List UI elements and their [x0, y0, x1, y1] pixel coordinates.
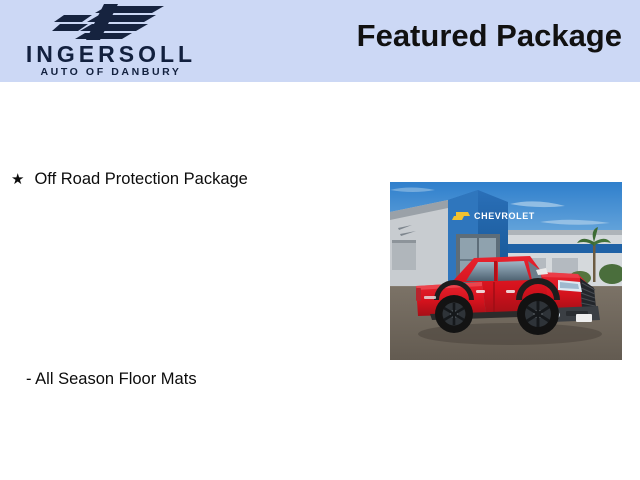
option-list-item: - All Season Floor Mats	[26, 370, 197, 389]
brand-subtitle: AUTO OF DANBURY	[6, 66, 216, 78]
package-label: Off Road Protection Package	[34, 170, 247, 189]
vehicle-photo: CHEVROLET	[390, 182, 622, 360]
brand-name: INGERSOLL	[6, 42, 216, 66]
package-list-item: ★ Off Road Protection Package	[11, 170, 248, 189]
star-icon: ★	[11, 172, 24, 187]
page-title: Featured Package	[357, 18, 622, 54]
page-header: INGERSOLL AUTO OF DANBURY Featured Packa…	[0, 0, 640, 82]
ingersoll-wing-emblem	[52, 4, 172, 40]
svg-text:CHEVROLET: CHEVROLET	[474, 211, 535, 221]
brand-logo: INGERSOLL AUTO OF DANBURY	[6, 2, 216, 80]
main-content: ★ Off Road Protection Package - All Seas…	[0, 82, 640, 480]
